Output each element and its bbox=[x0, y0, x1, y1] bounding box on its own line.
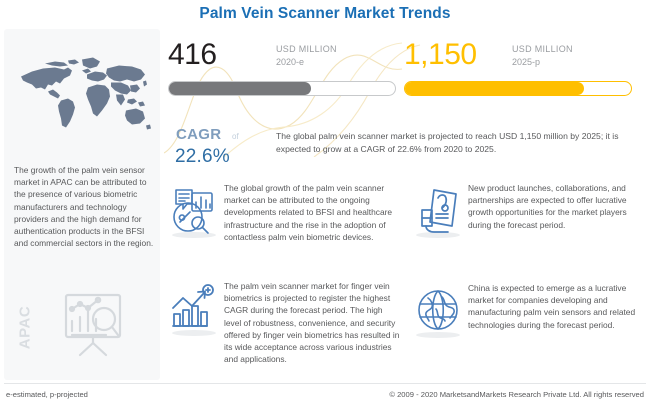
stat-year: 2020-e bbox=[276, 56, 304, 69]
world-map-icon bbox=[12, 35, 152, 155]
stat-unit: USD MILLION bbox=[512, 43, 573, 56]
cagr-of-label: of bbox=[232, 132, 239, 141]
card-text: New product launches, collaborations, an… bbox=[468, 182, 646, 231]
hand-scanner-device-icon bbox=[412, 184, 464, 236]
bar-chart-growth-arrow-icon bbox=[168, 282, 220, 334]
card-text: The palm vein scanner market for finger … bbox=[224, 280, 400, 365]
cagr-value: 22.6% bbox=[175, 146, 230, 168]
stat-value: 1,150 bbox=[404, 39, 477, 71]
presentation-chart-magnifier-icon bbox=[56, 291, 130, 361]
stat-bar-base bbox=[168, 81, 396, 96]
footer-note: e-estimated, p-projected bbox=[6, 390, 88, 399]
region-description: The growth of the palm vein sensor marke… bbox=[14, 164, 156, 249]
intro-text: The global palm vein scanner market is p… bbox=[276, 130, 648, 155]
stat-year: 2025-p bbox=[512, 56, 540, 69]
card-china-market: China is expected to emerge as a lucrati… bbox=[412, 282, 648, 377]
page-title: Palm Vein Scanner Market Trends bbox=[0, 5, 650, 23]
footer-copyright: © 2009 - 2020 MarketsandMarkets Research… bbox=[389, 390, 644, 399]
region-panel: The growth of the palm vein sensor marke… bbox=[4, 29, 160, 380]
card-text: China is expected to emerge as a lucrati… bbox=[468, 282, 646, 331]
stat-bar-fill bbox=[169, 82, 311, 95]
stat-unit: USD MILLION bbox=[276, 43, 337, 56]
stat-bar-forecast bbox=[404, 81, 632, 96]
stat-bar-fill bbox=[405, 82, 584, 95]
card-product-launches: New product launches, collaborations, an… bbox=[412, 182, 648, 272]
apac-block: APAC bbox=[8, 287, 158, 377]
stat-forecast-year: 1,150 USD MILLION 2025-p bbox=[404, 39, 636, 109]
stat-base-year: 416 USD MILLION 2020-e bbox=[168, 39, 400, 109]
globe-icon bbox=[412, 284, 464, 336]
footer-divider bbox=[4, 383, 646, 384]
card-text: The global growth of the palm vein scann… bbox=[224, 182, 398, 243]
cagr-label: CAGR bbox=[176, 126, 221, 143]
apac-label: APAC bbox=[17, 298, 34, 358]
cagr-block: CAGR of 22.6% bbox=[172, 126, 282, 174]
card-market-growth: The global growth of the palm vein scann… bbox=[168, 182, 400, 272]
stat-value: 416 bbox=[168, 39, 217, 71]
infographic-page: Palm Vein Scanner Market Trends bbox=[0, 0, 650, 409]
report-chart-percent-icon bbox=[168, 184, 220, 236]
card-finger-vein: The palm vein scanner market for finger … bbox=[168, 280, 400, 380]
